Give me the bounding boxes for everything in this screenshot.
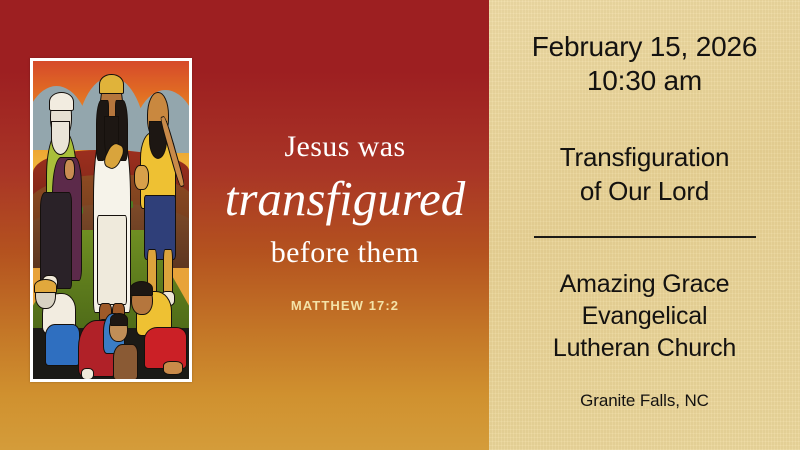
artwork-figure-disciple — [33, 277, 83, 366]
season-line-1: Transfiguration — [560, 140, 729, 174]
church-name: Amazing Grace Evangelical Lutheran Churc… — [553, 268, 736, 364]
church-line-2: Evangelical — [553, 300, 736, 332]
scripture-block: Jesus was transfigured before them MATTH… — [200, 128, 489, 313]
right-panel: February 15, 2026 10:30 am Transfigurati… — [489, 0, 800, 450]
artwork-frame — [30, 58, 192, 382]
church-line-1: Amazing Grace — [553, 268, 736, 300]
church-city: Granite Falls, NC — [580, 390, 709, 412]
liturgical-season: Transfiguration of Our Lord — [560, 140, 729, 208]
worship-slide: Jesus was transfigured before them MATTH… — [0, 0, 800, 450]
transfiguration-artwork — [33, 61, 189, 379]
artwork-figure-disciple — [130, 277, 189, 372]
church-line-3: Lutheran Church — [553, 332, 736, 364]
scripture-line-3: before them — [200, 234, 489, 272]
service-date: February 15, 2026 — [532, 30, 757, 64]
season-line-2: of Our Lord — [560, 174, 729, 208]
service-datetime: February 15, 2026 10:30 am — [532, 30, 757, 98]
scripture-line-1: Jesus was — [200, 128, 489, 166]
artwork-figure-moses — [36, 90, 89, 287]
left-panel: Jesus was transfigured before them MATTH… — [0, 0, 489, 450]
scripture-line-2: transfigured — [200, 168, 489, 230]
section-divider — [534, 236, 756, 238]
artwork-figure-disciple — [77, 309, 136, 379]
artwork-figure-elijah — [133, 90, 186, 300]
service-time: 10:30 am — [532, 64, 757, 98]
scripture-reference: MATTHEW 17:2 — [200, 298, 489, 313]
